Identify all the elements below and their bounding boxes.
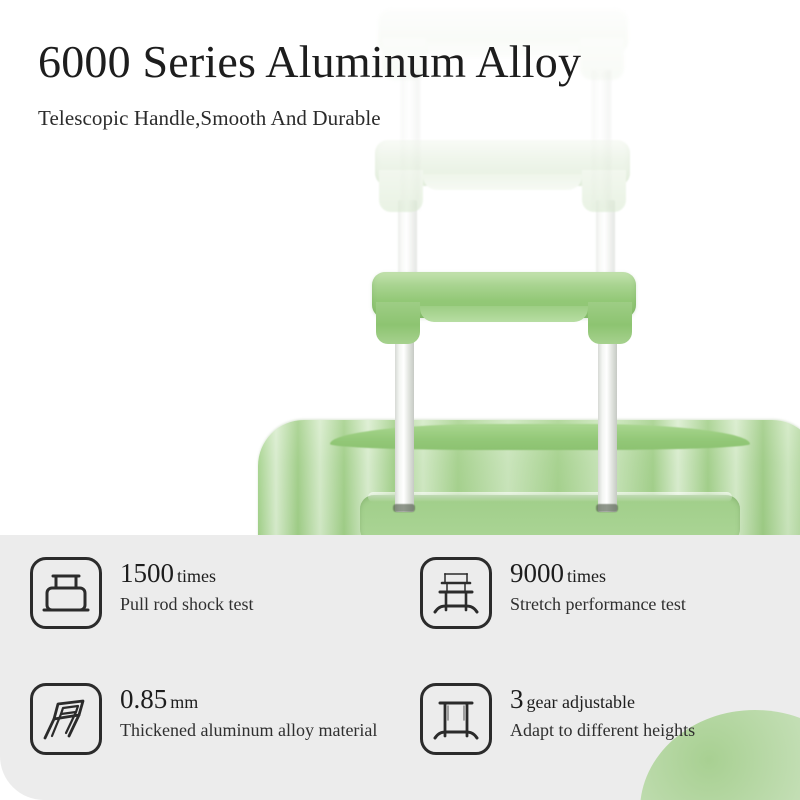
feature-unit: times xyxy=(567,566,606,586)
telescoping-rod-right xyxy=(598,330,617,512)
feature-description: Pull rod shock test xyxy=(120,593,254,616)
telescoping-stages-icon xyxy=(420,557,492,629)
feature-value: 1500 xyxy=(120,558,174,588)
feature-description: Adapt to different heights xyxy=(510,719,695,742)
feature-item: 3gear adjustable Adapt to different heig… xyxy=(420,683,695,755)
feature-item: 1500times Pull rod shock test xyxy=(30,557,254,629)
feature-value: 0.85 xyxy=(120,684,167,714)
handle-leg-left xyxy=(376,302,420,344)
handle-well-lip xyxy=(368,492,732,502)
handle-main-stage1 xyxy=(372,272,636,350)
feature-headline: 0.85mm xyxy=(120,685,377,715)
feature-text: 1500times Pull rod shock test xyxy=(120,557,254,616)
rod-cap-left xyxy=(393,504,415,512)
feature-headline: 3gear adjustable xyxy=(510,685,695,715)
feature-item: 0.85mm Thickened aluminum alloy material xyxy=(30,683,377,755)
product-photo: 6000 Series Aluminum Alloy Telescopic Ha… xyxy=(0,0,800,540)
handle-leg-left xyxy=(379,170,423,212)
feature-text: 3gear adjustable Adapt to different heig… xyxy=(510,683,695,742)
handle-inner-notch xyxy=(423,174,582,190)
feature-description: Stretch performance test xyxy=(510,593,686,616)
page-title: 6000 Series Aluminum Alloy xyxy=(38,38,581,86)
handle-leg-right xyxy=(588,302,632,344)
feature-headline: 1500times xyxy=(120,559,254,589)
telescoping-rod-left xyxy=(395,330,414,512)
feature-unit: times xyxy=(177,566,216,586)
feature-value: 3 xyxy=(510,684,524,714)
feature-item: 9000times Stretch performance test xyxy=(420,557,686,629)
suitcase-top-rim xyxy=(330,424,750,450)
page-subtitle: Telescopic Handle,Smooth And Durable xyxy=(38,106,381,131)
product-infographic: 6000 Series Aluminum Alloy Telescopic Ha… xyxy=(0,0,800,800)
handle-leg-right xyxy=(580,38,624,80)
handle-ghost-stage2 xyxy=(375,140,630,215)
feature-grid: 1500times Pull rod shock test xyxy=(0,535,800,800)
feature-text: 9000times Stretch performance test xyxy=(510,557,686,616)
feature-description: Thickened aluminum alloy material xyxy=(120,719,377,742)
feature-value: 9000 xyxy=(510,558,564,588)
feature-unit: mm xyxy=(170,692,198,712)
aluminum-tube-icon xyxy=(30,683,102,755)
handle-leg-right xyxy=(582,170,626,212)
suitcase-pull-rod-icon xyxy=(30,557,102,629)
feature-text: 0.85mm Thickened aluminum alloy material xyxy=(120,683,377,742)
feature-unit: gear adjustable xyxy=(527,692,635,712)
handle-height-icon xyxy=(420,683,492,755)
rod-cap-right xyxy=(596,504,618,512)
feature-headline: 9000times xyxy=(510,559,686,589)
handle-inner-notch xyxy=(420,306,588,322)
feature-panel: 1500times Pull rod shock test xyxy=(0,535,800,800)
